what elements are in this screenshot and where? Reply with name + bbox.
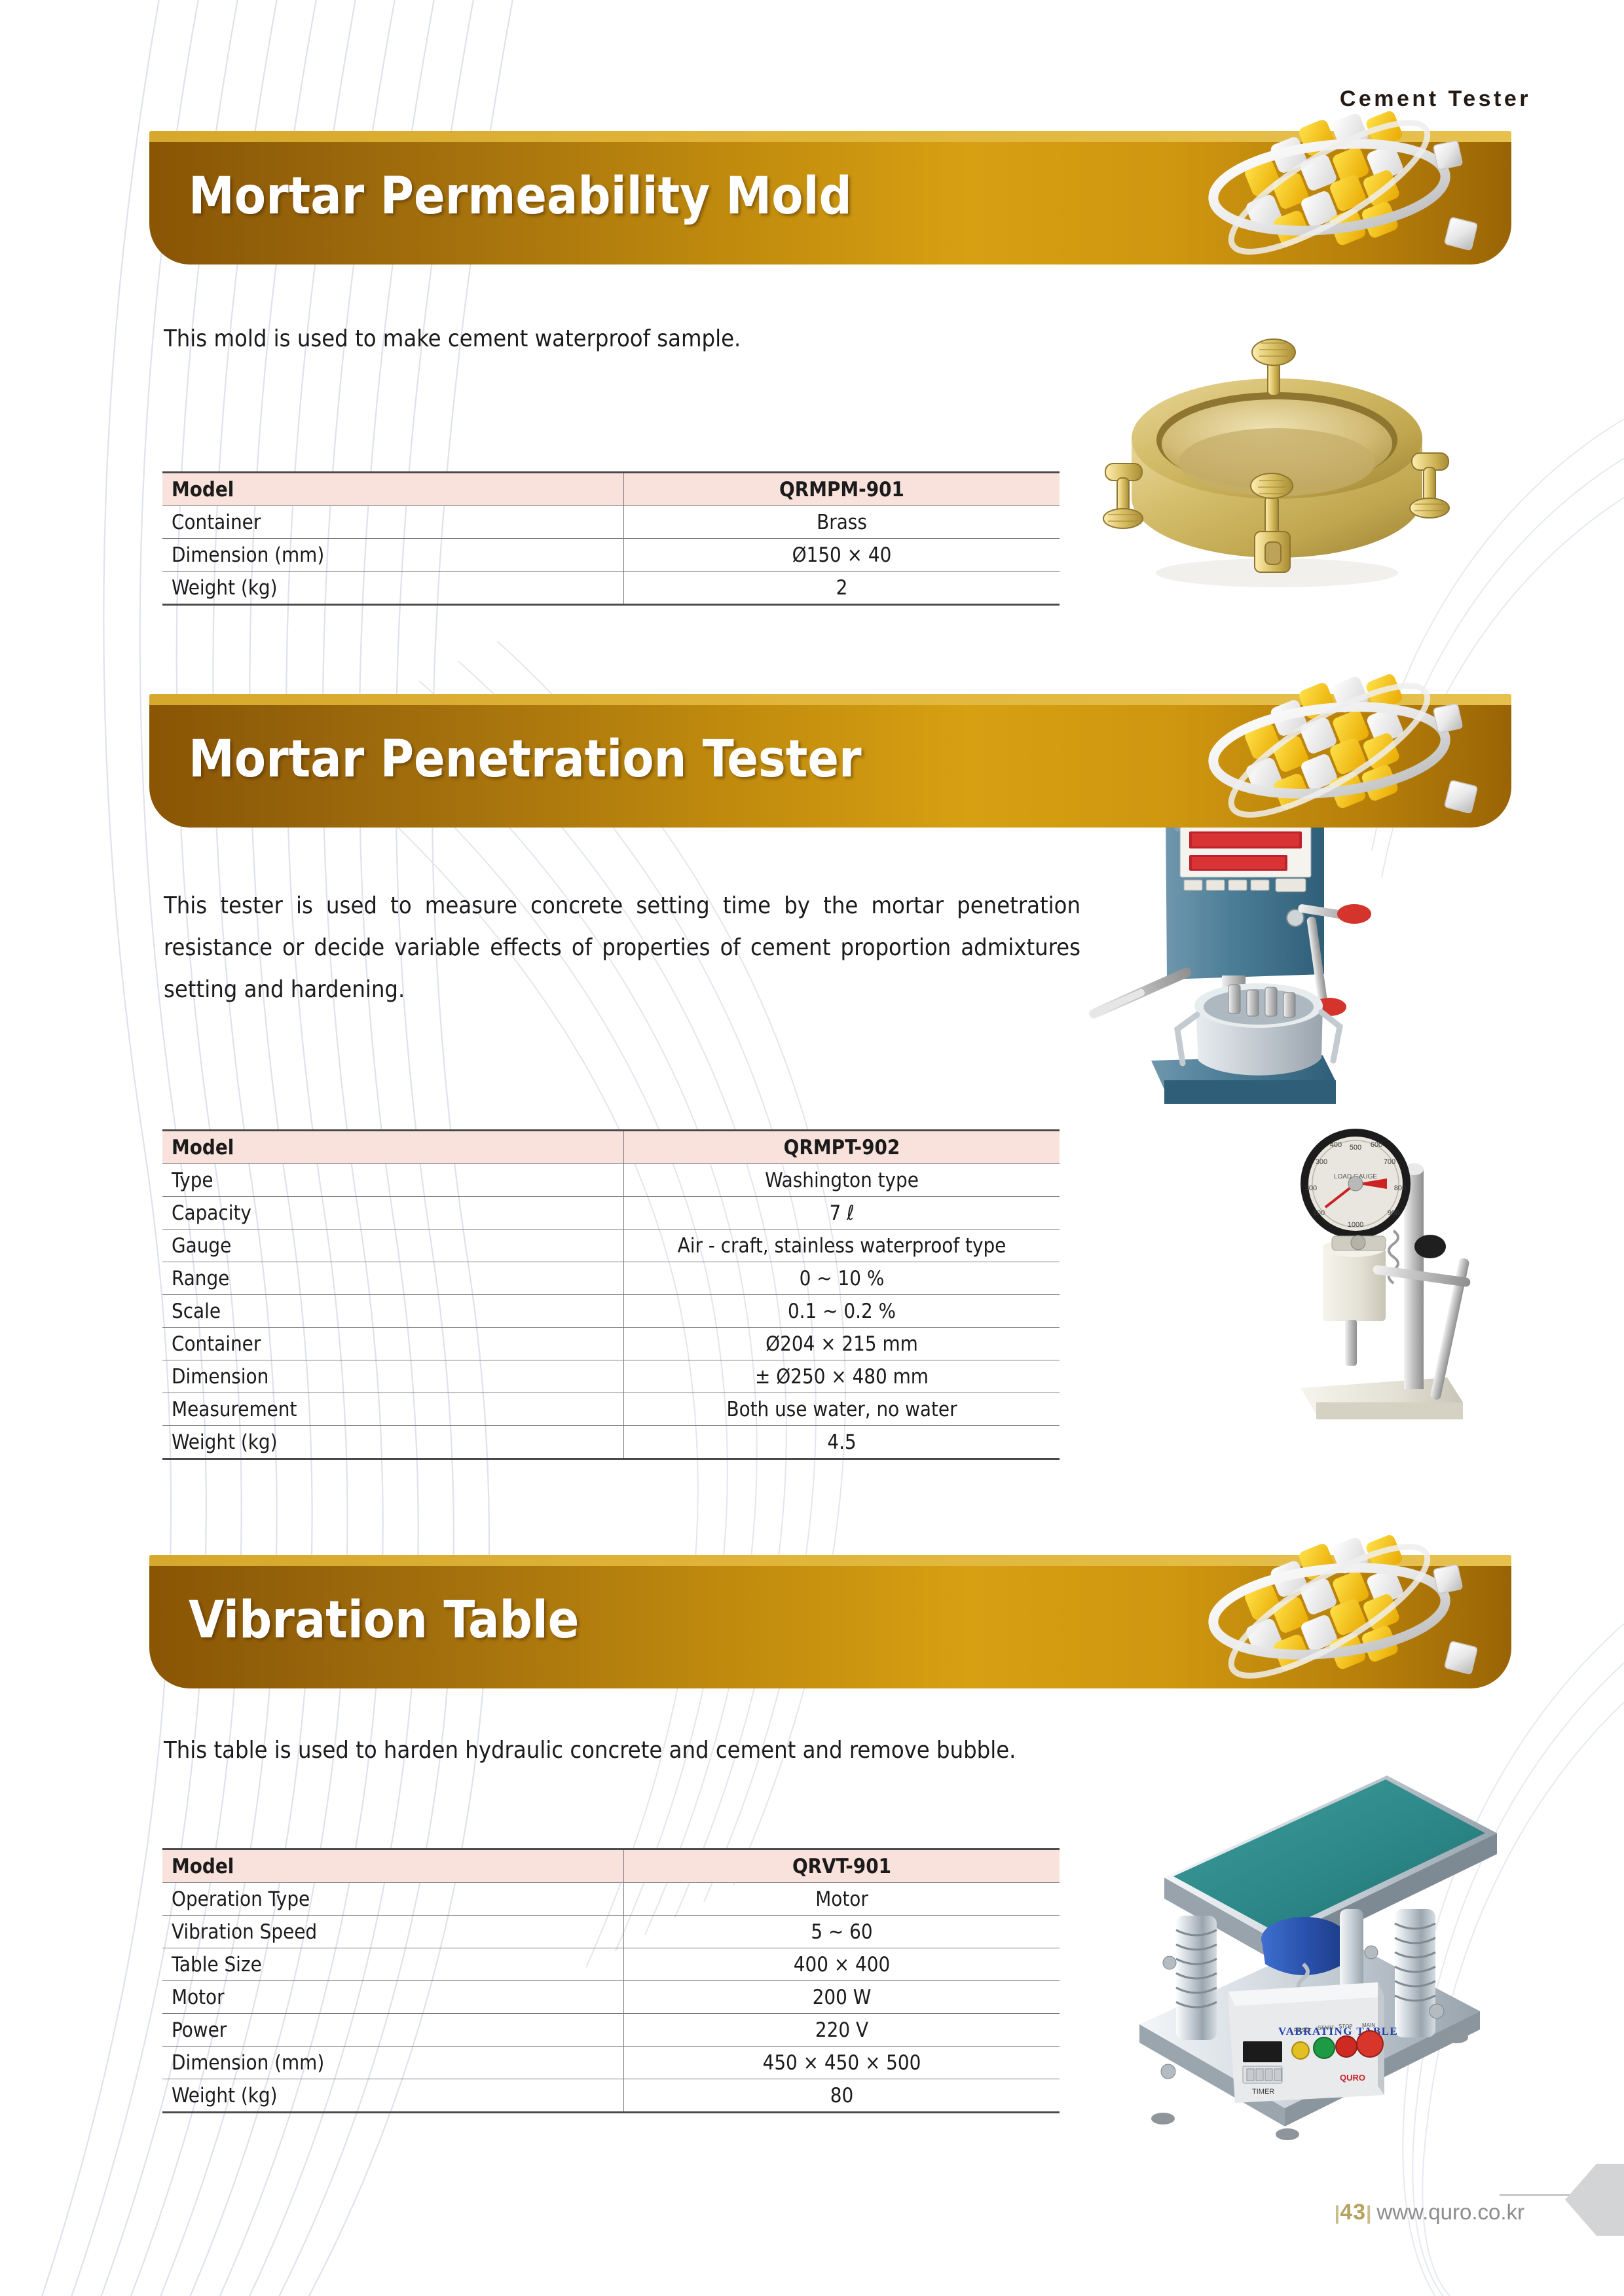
- svg-text:MAIN: MAIN: [1362, 2022, 1375, 2028]
- row-value: Ø204 × 215 mm: [624, 1328, 1060, 1360]
- table-row: Container Ø204 × 215 mm: [162, 1328, 1060, 1360]
- row-label: Table Size: [162, 1948, 624, 1981]
- spec-table-2: Model QRMPT-902 Type Washington type Cap…: [162, 1129, 1060, 1460]
- table-row: Weight (kg) 2: [162, 572, 1060, 605]
- svg-text:600: 600: [1371, 1141, 1382, 1149]
- svg-text:200: 200: [1305, 1184, 1317, 1192]
- table-row: Type Washington type: [162, 1164, 1060, 1197]
- row-label: Power: [162, 2014, 624, 2047]
- row-value: 7 ℓ: [624, 1197, 1060, 1230]
- section-description-2: This tester is used to measure concrete …: [164, 885, 1080, 1011]
- row-value: 2: [624, 572, 1060, 605]
- table-header-value: QRMPT-902: [624, 1131, 1060, 1164]
- mortar-penetration-tester-photo: 500300 700200 800100 9001000 400600 LOAD…: [1067, 799, 1486, 1493]
- svg-text:RESET: RESET: [1294, 2028, 1312, 2033]
- row-value: Both use water, no water: [624, 1393, 1060, 1426]
- table-row: Range 0 ~ 10 %: [162, 1262, 1060, 1295]
- table-header-value: QRMPM-901: [624, 473, 1060, 506]
- table-header-value: QRVT-901: [624, 1850, 1060, 1883]
- section-title-2: Mortar Penetration Tester: [189, 730, 862, 789]
- footer-url: www.quro.co.kr: [1376, 2200, 1524, 2224]
- table-header-label: Model: [162, 1131, 624, 1164]
- table-header-row: Model QRVT-901: [162, 1850, 1060, 1883]
- row-value: 200 W: [624, 1981, 1060, 2014]
- running-head: Cement Tester: [1340, 86, 1531, 112]
- row-label: Operation Type: [162, 1883, 624, 1916]
- cube-orbit-logo-icon: [1154, 635, 1507, 851]
- table-row: Weight (kg) 4.5: [162, 1426, 1060, 1459]
- table-row: Container Brass: [162, 506, 1060, 539]
- row-label: Vibration Speed: [162, 1916, 624, 1948]
- row-value: 5 ~ 60: [624, 1916, 1060, 1948]
- table-row: Operation Type Motor: [162, 1883, 1060, 1916]
- table-row: Dimension ± Ø250 × 480 mm: [162, 1360, 1060, 1393]
- vibration-table-photo: VABRATING TABLE TIMER RESETSTART STOPMAI…: [1113, 1768, 1506, 2141]
- row-label: Scale: [162, 1295, 624, 1328]
- footer-bar-right: |: [1366, 2202, 1371, 2224]
- table-row: Capacity 7 ℓ: [162, 1197, 1060, 1230]
- row-value: Air - craft, stainless waterproof type: [624, 1230, 1060, 1262]
- cube-orbit-logo-icon: [1154, 1496, 1507, 1712]
- row-value: Ø150 × 40: [624, 539, 1060, 572]
- section-description-1: This mold is used to make cement waterpr…: [164, 322, 1048, 356]
- svg-text:START: START: [1318, 2025, 1335, 2031]
- table-row: Weight (kg) 80: [162, 2079, 1060, 2113]
- table-row: Scale 0.1 ~ 0.2 %: [162, 1295, 1060, 1328]
- table-row: Power 220 V: [162, 2014, 1060, 2047]
- row-label: Capacity: [162, 1197, 624, 1230]
- row-value: 80: [624, 2079, 1060, 2113]
- svg-text:700: 700: [1384, 1158, 1395, 1166]
- page-number: 43: [1340, 2200, 1366, 2225]
- footer-bar-left: |: [1335, 2202, 1340, 2224]
- row-label: Weight (kg): [162, 1426, 624, 1459]
- table-row: Measurement Both use water, no water: [162, 1393, 1060, 1426]
- corner-arrow-icon: [1565, 2151, 1624, 2249]
- row-value: ± Ø250 × 480 mm: [624, 1360, 1060, 1393]
- row-value: Washington type: [624, 1164, 1060, 1197]
- row-label: Type: [162, 1164, 624, 1197]
- svg-text:300: 300: [1316, 1158, 1327, 1166]
- spec-table-1: Model QRMPM-901 Container Brass Dimensio…: [162, 471, 1060, 606]
- table-row: Motor 200 W: [162, 1981, 1060, 2014]
- table-header-row: Model QRMPT-902: [162, 1131, 1060, 1164]
- table-row: Dimension (mm) 450 × 450 × 500: [162, 2047, 1060, 2079]
- table-row: Dimension (mm) Ø150 × 40: [162, 539, 1060, 572]
- section-title-1: Mortar Permeability Mold: [189, 167, 852, 226]
- mortar-permeability-mold-photo: [1074, 275, 1480, 602]
- row-value: Brass: [624, 506, 1060, 539]
- spec-table-3: Model QRVT-901 Operation Type Motor Vibr…: [162, 1848, 1060, 2113]
- table-header-label: Model: [162, 1850, 624, 1883]
- row-value: 400 × 400: [624, 1948, 1060, 1981]
- row-label: Weight (kg): [162, 2079, 624, 2113]
- svg-text:QURO: QURO: [1340, 2073, 1365, 2083]
- vibration-timer-label: TIMER: [1252, 2088, 1274, 2096]
- svg-text:900: 900: [1388, 1209, 1399, 1217]
- row-label: Dimension (mm): [162, 2047, 624, 2079]
- row-label: Measurement: [162, 1393, 624, 1426]
- svg-text:400: 400: [1330, 1141, 1342, 1149]
- section-banner-1: Mortar Permeability Mold: [149, 131, 1511, 264]
- svg-text:STOP: STOP: [1338, 2024, 1353, 2030]
- row-label: Weight (kg): [162, 572, 624, 605]
- page-footer: |43|www.quro.co.kr: [1335, 2200, 1524, 2225]
- row-value: 220 V: [624, 2014, 1060, 2047]
- table-row: Gauge Air - craft, stainless waterproof …: [162, 1230, 1060, 1262]
- section-description-3: This table is used to harden hydraulic c…: [164, 1734, 1159, 1768]
- row-label: Container: [162, 1328, 624, 1360]
- row-label: Container: [162, 506, 624, 539]
- row-label: Motor: [162, 1981, 624, 2014]
- row-label: Dimension (mm): [162, 539, 624, 572]
- table-row: Vibration Speed 5 ~ 60: [162, 1916, 1060, 1948]
- table-header-label: Model: [162, 473, 624, 506]
- svg-text:800: 800: [1394, 1184, 1406, 1192]
- row-value: 0.1 ~ 0.2 %: [624, 1295, 1060, 1328]
- row-label: Dimension: [162, 1360, 624, 1393]
- row-value: 4.5: [624, 1426, 1060, 1459]
- section-banner-3: Vibration Table: [149, 1555, 1511, 1688]
- svg-text:1000: 1000: [1348, 1221, 1363, 1229]
- row-label: Range: [162, 1262, 624, 1295]
- svg-text:100: 100: [1313, 1209, 1325, 1217]
- table-header-row: Model QRMPM-901: [162, 473, 1060, 506]
- table-row: Table Size 400 × 400: [162, 1948, 1060, 1981]
- row-value: 0 ~ 10 %: [624, 1262, 1060, 1295]
- row-label: Gauge: [162, 1230, 624, 1262]
- catalog-page: Cement Tester Mortar Permeability Mold: [0, 0, 1624, 2296]
- row-value: 450 × 450 × 500: [624, 2047, 1060, 2079]
- svg-text:500: 500: [1350, 1144, 1361, 1152]
- section-title-3: Vibration Table: [189, 1591, 579, 1650]
- section-banner-2: Mortar Penetration Tester: [149, 694, 1511, 828]
- row-value: Motor: [624, 1883, 1060, 1916]
